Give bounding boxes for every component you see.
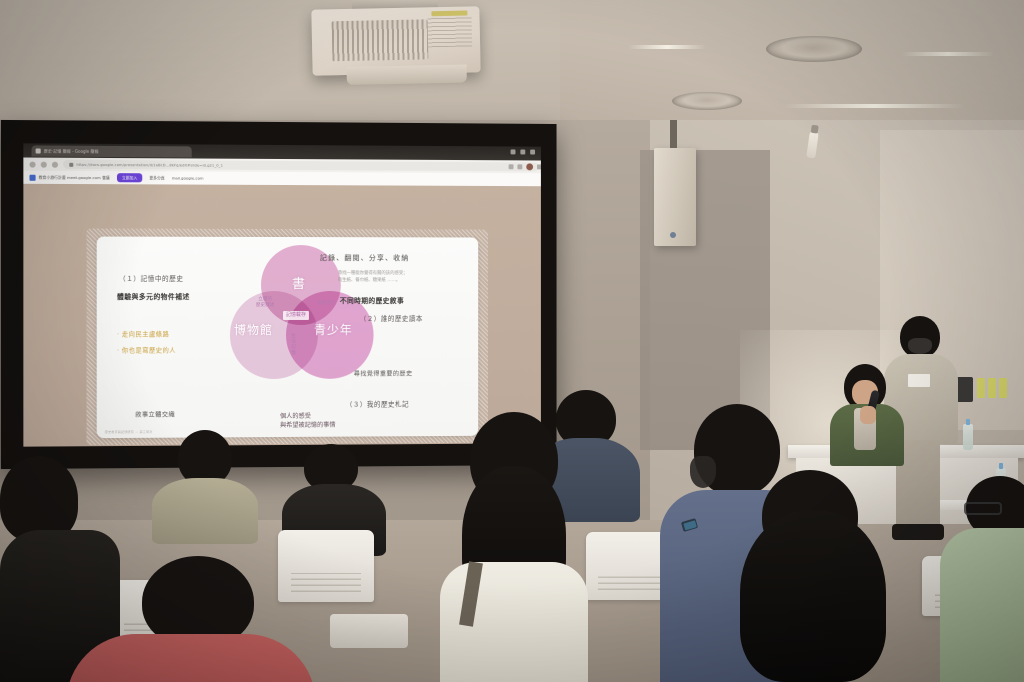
water-bottle[interactable]	[963, 424, 973, 450]
bookmark-item[interactable]: mail.google.com	[172, 175, 204, 180]
audience-member-right	[940, 476, 1024, 682]
chair-seat[interactable]	[330, 614, 408, 648]
lock-icon	[69, 162, 73, 166]
projector-sticker	[431, 10, 467, 16]
slide-right-section-3: （３）我的歷史札記	[346, 398, 409, 408]
toolbar-actions[interactable]	[509, 163, 541, 170]
audience-member-with-bag	[428, 412, 596, 682]
slide-note: 尋找一種能你覺得有關的該的感受； 衛生紙、餐巾紙、糖果紙 ……。	[338, 271, 408, 284]
extensions-icon[interactable]	[509, 164, 514, 169]
menu-icon[interactable]	[537, 164, 541, 169]
maximize-icon[interactable]	[520, 149, 525, 154]
torso	[152, 478, 258, 544]
speaker-with-microphone	[830, 364, 904, 464]
eyeglasses-icon	[964, 502, 1002, 515]
venn-overlap-center: 記憶載存	[283, 311, 309, 320]
bookmark-label: mail.google.com	[172, 175, 204, 180]
slide-note-line-1: 尋找一種能你覺得有關的該的感受；	[338, 271, 408, 276]
reload-icon[interactable]	[52, 161, 58, 167]
slide-bottom-line-1: 個人的感受	[280, 413, 311, 420]
ceiling-projector	[311, 6, 480, 76]
presentation-slide[interactable]: 書 博物館 青少年 立體的歷史敘述 關於他人 記憶載存 生活記憶 （１）記憶中的…	[97, 237, 479, 439]
url-text: https://docs.google.com/presentation/d/1…	[76, 162, 223, 167]
slide-left-section: （１）記憶中的歷史	[119, 273, 184, 283]
close-icon[interactable]	[530, 150, 535, 155]
slide-note-line-2: 衛生紙、餐巾紙、糖果紙 ……。	[338, 278, 400, 283]
slot-light-icon	[902, 52, 994, 56]
hanging-speaker	[654, 148, 696, 246]
speaker-hand	[860, 406, 876, 424]
venn-diagram: 書 博物館 青少年 立體的歷史敘述 關於他人 記憶載存 生活記憶	[226, 245, 376, 405]
bookmark-label: 更多分頁	[149, 175, 164, 181]
browser-tab-title: 歷史‧記憶 簡報 - Google 簡報	[44, 148, 99, 154]
long-hair	[740, 510, 886, 682]
bookmark-item[interactable]: 教育小旅行計畫 meet.google.com 會議	[29, 174, 109, 180]
staff-name-tag	[908, 374, 930, 387]
face-mask	[908, 338, 932, 354]
lecture-room-photo: 歷史‧記憶 簡報 - Google 簡報 https://docs.google…	[0, 0, 1024, 682]
slide-left-bullet-2: · 你也是寫歷史的人	[117, 345, 176, 354]
meet-icon	[29, 174, 35, 180]
slide-right-section-2: （２）誰的歷史讀本	[360, 313, 423, 323]
projected-browser-window: 歷史‧記憶 簡報 - Google 簡報 https://docs.google…	[23, 143, 541, 446]
avatar[interactable]	[526, 163, 533, 170]
projector-vent-icon	[332, 19, 429, 61]
audience-member-long-hair	[710, 470, 900, 682]
projector-label	[428, 16, 473, 47]
slide-footer: 歷史教育與記憶研究 — 第三場次	[105, 430, 153, 434]
venn-overlap-top-right: 關於他人	[318, 301, 336, 307]
minimize-icon[interactable]	[511, 149, 516, 154]
audience-member	[152, 430, 258, 540]
light-switch-icon[interactable]	[999, 378, 1007, 398]
bookmark-item[interactable]: 更多分頁	[149, 175, 164, 181]
browser-tab[interactable]: 歷史‧記憶 簡報 - Google 簡報	[32, 145, 192, 157]
torso	[66, 634, 316, 682]
venn-label-museum: 博物館	[234, 321, 273, 338]
bookmark-label: 教育小旅行計畫 meet.google.com 會議	[39, 174, 110, 180]
venn-label-youth: 青少年	[314, 321, 353, 338]
torso	[940, 528, 1024, 682]
back-icon[interactable]	[29, 161, 35, 167]
projector-lens	[347, 65, 467, 86]
slide-bottom-line-2: 與希望被記憶的事情	[280, 422, 336, 429]
slide-right-bold: 不同時期的歷史敘事	[340, 295, 404, 305]
slide-left-bold: 體驗與多元的物件補述	[117, 291, 190, 301]
tab-favicon-icon	[36, 148, 41, 153]
slide-canvas: 書 博物館 青少年 立體的歷史敘述 關於他人 記憶載存 生活記憶 （１）記憶中的…	[23, 184, 541, 447]
slide-left-bottom: 敘事立體交織	[135, 410, 175, 419]
air-diffuser-icon	[766, 36, 862, 62]
venn-overlap-top-left: 立體的歷史敘述	[256, 297, 274, 309]
bookmark-star-icon[interactable]	[517, 164, 522, 169]
slot-light-icon	[628, 45, 706, 49]
address-bar[interactable]: https://docs.google.com/presentation/d/1…	[63, 160, 539, 172]
air-diffuser-icon	[672, 92, 742, 110]
forward-icon[interactable]	[41, 161, 47, 167]
venn-overlap-bottom: 生活記憶	[290, 333, 295, 355]
light-switch-icon[interactable]	[988, 378, 996, 398]
audience-member-front	[66, 556, 316, 682]
light-switch-icon[interactable]	[977, 378, 985, 398]
slide-headline: 記錄、翻閱、分享、收納	[320, 253, 410, 263]
slide-bottom-center: 個人的感受 與希望被記憶的事情	[280, 413, 336, 431]
chair-slats	[598, 573, 661, 591]
slot-light-icon	[784, 104, 964, 108]
slide-right-find: 尋找覺得重要的歷史	[354, 369, 413, 378]
slide-left-bullet-1: · 走向民主盧條路	[117, 329, 169, 338]
venn-label-book: 書	[292, 273, 306, 292]
window-controls[interactable]	[511, 149, 535, 154]
join-meeting-button[interactable]: 立即加入	[117, 173, 142, 182]
